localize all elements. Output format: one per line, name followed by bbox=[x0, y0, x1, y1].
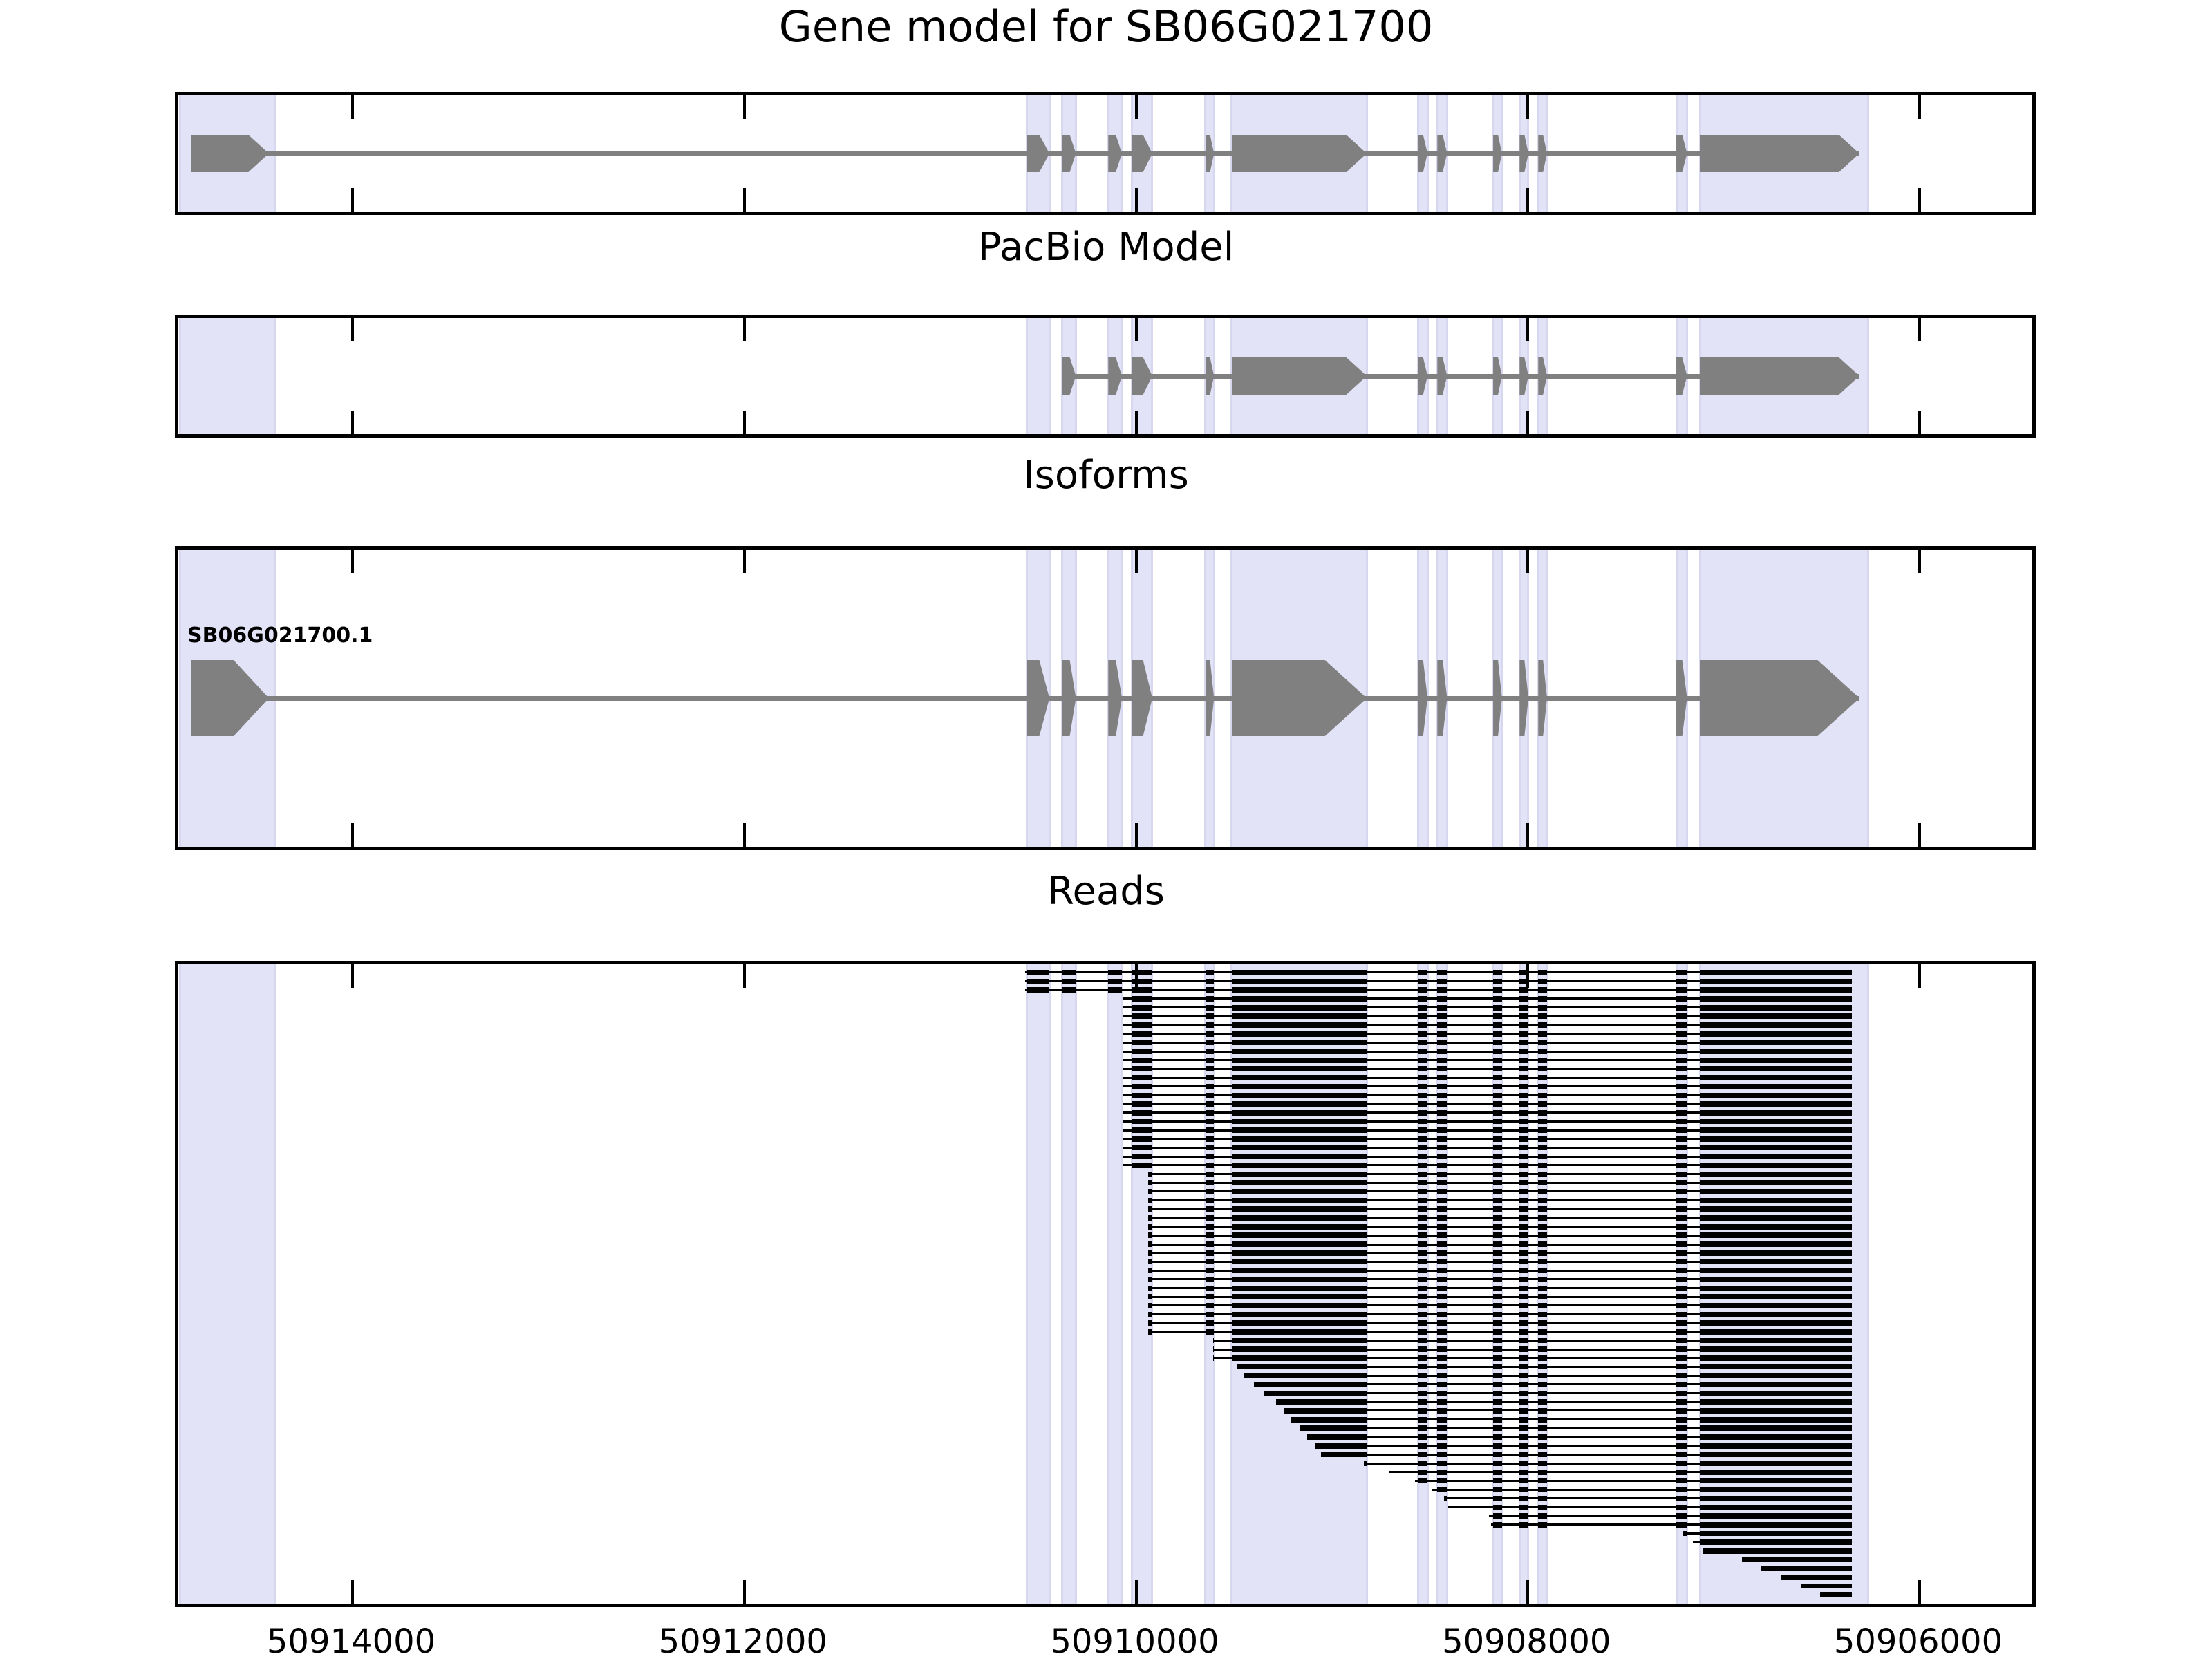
exon bbox=[1700, 135, 1859, 172]
highlight-band-edge bbox=[1061, 964, 1063, 1604]
read-exon-block bbox=[1538, 1049, 1547, 1054]
read-exon-block bbox=[1700, 1049, 1852, 1054]
read-exon-block bbox=[1700, 1531, 1852, 1537]
read-exon-block bbox=[1232, 979, 1367, 984]
read-exon-block bbox=[1307, 1434, 1367, 1440]
read-exon-block bbox=[1700, 1119, 1852, 1125]
read-exon-block bbox=[1418, 1232, 1427, 1238]
highlight-band-edge bbox=[1026, 318, 1028, 434]
read-exon-block bbox=[1264, 1391, 1367, 1396]
read-exon-block bbox=[1027, 987, 1050, 993]
read-exon-block bbox=[1700, 1005, 1852, 1011]
axis-tick-label: 50906000 bbox=[1834, 1622, 2003, 1661]
read-exon-block bbox=[1232, 1101, 1367, 1107]
read-exon-block bbox=[1538, 987, 1547, 993]
read-exon-block bbox=[1206, 1259, 1215, 1264]
read-exon-block bbox=[1538, 1022, 1547, 1028]
read-exon-block bbox=[1538, 1268, 1547, 1273]
axis-tick bbox=[1526, 550, 1529, 573]
read-exon-block bbox=[1321, 1452, 1367, 1457]
read-exon-block bbox=[1232, 1022, 1367, 1028]
read-exon-block bbox=[1418, 979, 1427, 984]
read-exon-block bbox=[1519, 996, 1528, 1002]
read-exon-block bbox=[1493, 1058, 1502, 1063]
read-exon-block bbox=[1493, 1425, 1502, 1431]
axis-tick bbox=[351, 318, 354, 341]
read-exon-block bbox=[1254, 1382, 1367, 1387]
read-exon-block bbox=[1538, 1101, 1547, 1107]
axis-tick bbox=[351, 964, 354, 988]
read-exon-block bbox=[1437, 1066, 1447, 1071]
read-exon-block bbox=[1232, 1066, 1367, 1071]
read-exon-block bbox=[1418, 1329, 1427, 1335]
read-exon-block bbox=[1437, 1189, 1447, 1194]
highlight-band-edge bbox=[1107, 964, 1109, 1604]
read-exon-block bbox=[1232, 1241, 1367, 1247]
read-exon-block bbox=[1206, 1013, 1215, 1019]
read-exon-block bbox=[1519, 1058, 1528, 1063]
read-exon-block bbox=[1519, 1163, 1528, 1168]
read-exon-block bbox=[1232, 1198, 1367, 1203]
read-exon-block bbox=[1519, 1268, 1528, 1273]
read-exon-block bbox=[1437, 1250, 1447, 1256]
read-exon-block bbox=[1232, 1286, 1367, 1291]
read-exon-block bbox=[1538, 1277, 1547, 1282]
read-exon-block bbox=[1437, 1145, 1447, 1151]
plot-area-pacbio-model bbox=[178, 318, 2032, 434]
axis-tick bbox=[1526, 188, 1529, 212]
read-exon-block bbox=[1062, 979, 1076, 984]
read-exon-block bbox=[1538, 1189, 1547, 1194]
read-exon-block bbox=[1538, 1496, 1547, 1501]
read-exon-block bbox=[1213, 1338, 1214, 1344]
read-exon-block bbox=[1244, 1373, 1367, 1378]
read-exon-block bbox=[1538, 1320, 1547, 1326]
axis-tick bbox=[743, 823, 746, 847]
read-exon-block bbox=[1132, 979, 1152, 984]
read-exon-block bbox=[1437, 1425, 1447, 1431]
read-exon-block bbox=[1206, 1031, 1215, 1037]
read-exon-block bbox=[1676, 1040, 1687, 1045]
read-exon-block bbox=[1519, 1320, 1528, 1326]
read-exon-block bbox=[1519, 1294, 1528, 1299]
read-exon-block bbox=[1148, 1259, 1152, 1264]
read-exon-block bbox=[1206, 1005, 1215, 1011]
read-exon-block bbox=[1676, 1110, 1687, 1116]
read-exon-block bbox=[1519, 1286, 1528, 1291]
read-exon-block bbox=[1493, 1268, 1502, 1273]
read-exon-block bbox=[1742, 1557, 1852, 1563]
read-exon-block bbox=[1700, 1505, 1852, 1510]
highlight-band-edge bbox=[179, 550, 181, 847]
read-exon-block bbox=[1206, 1154, 1215, 1159]
read-exon-block bbox=[1538, 1075, 1547, 1080]
read-exon-block bbox=[1700, 1417, 1852, 1423]
read-exon-block bbox=[1519, 1232, 1528, 1238]
read-exon-block bbox=[1418, 1478, 1427, 1483]
read-exon-block bbox=[1437, 1355, 1447, 1361]
read-exon-block bbox=[1437, 1198, 1447, 1203]
read-exon-block bbox=[1493, 1329, 1502, 1335]
exon bbox=[1232, 357, 1367, 395]
plot-area-gene-model bbox=[178, 95, 2032, 212]
read-exon-block bbox=[1493, 1522, 1502, 1528]
read-exon-block bbox=[1437, 1232, 1447, 1238]
axis-tick bbox=[351, 550, 354, 573]
read-exon-block bbox=[1538, 1443, 1547, 1449]
read-exon-block bbox=[1538, 1215, 1547, 1221]
highlight-band-edge bbox=[1049, 964, 1051, 1604]
highlight-band bbox=[1026, 964, 1050, 1604]
read-exon-block bbox=[1676, 1241, 1687, 1247]
read-exon-block bbox=[1418, 1320, 1427, 1326]
read-exon-block bbox=[1206, 1075, 1215, 1080]
read-exon-block bbox=[1132, 987, 1152, 993]
read-exon-block bbox=[1418, 1303, 1427, 1308]
read-exon-block bbox=[1418, 1346, 1427, 1352]
read-exon-block bbox=[1213, 1355, 1214, 1361]
read-exon-block bbox=[1232, 1005, 1367, 1011]
read-exon-block bbox=[1493, 1084, 1502, 1089]
read-exon-block bbox=[1132, 1005, 1152, 1011]
axis-tick bbox=[743, 318, 746, 341]
read-exon-block bbox=[1493, 970, 1502, 975]
read-exon-block bbox=[1493, 1127, 1502, 1133]
read-exon-block bbox=[1206, 1320, 1215, 1326]
read-exon-block bbox=[1148, 1277, 1152, 1282]
read-exon-block bbox=[1700, 1496, 1852, 1501]
read-exon-block bbox=[1676, 1505, 1687, 1510]
read-exon-block bbox=[1493, 1145, 1502, 1151]
read-exon-block bbox=[1437, 1005, 1447, 1011]
read-exon-block bbox=[1232, 1303, 1367, 1308]
read-exon-block bbox=[1148, 1312, 1152, 1317]
read-exon-block bbox=[1676, 1487, 1687, 1492]
read-exon-block bbox=[1493, 1163, 1502, 1168]
read-exon-block bbox=[1676, 1329, 1687, 1335]
highlight-band bbox=[1026, 318, 1050, 434]
read-exon-block bbox=[1206, 1198, 1215, 1203]
read-exon-block bbox=[1437, 1452, 1447, 1457]
read-exon-block bbox=[1700, 1172, 1852, 1177]
read-exon-block bbox=[1538, 1093, 1547, 1098]
read-exon-block bbox=[1437, 1478, 1447, 1483]
read-exon-block bbox=[1232, 1136, 1367, 1142]
read-exon-block bbox=[1132, 1066, 1152, 1071]
axis-tick bbox=[1526, 318, 1529, 341]
read-exon-block bbox=[1676, 1373, 1687, 1378]
read-exon-block bbox=[1148, 1189, 1152, 1194]
read-exon-block bbox=[1232, 1013, 1367, 1019]
read-exon-block bbox=[1519, 1461, 1528, 1466]
read-exon-block bbox=[1538, 996, 1547, 1002]
read-exon-block bbox=[1493, 1452, 1502, 1457]
read-exon-block bbox=[1437, 1215, 1447, 1221]
read-exon-block bbox=[1519, 1224, 1528, 1230]
axis-tick bbox=[351, 95, 354, 119]
read-exon-block bbox=[1538, 1312, 1547, 1317]
read-exon-block bbox=[1493, 1250, 1502, 1256]
read-exon-block bbox=[1418, 1215, 1427, 1221]
read-exon-block bbox=[1676, 996, 1687, 1002]
read-exon-block bbox=[1676, 1189, 1687, 1194]
read-exon-block bbox=[1700, 1382, 1852, 1387]
read-exon-block bbox=[1232, 1268, 1367, 1273]
read-exon-block bbox=[1148, 1241, 1152, 1247]
read-exon-block bbox=[1538, 1452, 1547, 1457]
read-exon-block bbox=[1700, 1040, 1852, 1045]
read-exon-block bbox=[1232, 1163, 1367, 1168]
read-exon-block bbox=[1232, 1294, 1367, 1299]
read-exon-block bbox=[1418, 1206, 1427, 1212]
panel-gene-model bbox=[175, 92, 2036, 215]
read-exon-block bbox=[1519, 1478, 1528, 1483]
read-exon-block bbox=[1493, 1277, 1502, 1282]
read-exon-block bbox=[1108, 979, 1122, 984]
read-exon-block bbox=[1206, 1145, 1215, 1151]
read-exon-block bbox=[1437, 1461, 1447, 1466]
read-exon-block bbox=[1700, 970, 1852, 975]
read-exon-block bbox=[1700, 1163, 1852, 1168]
axis-tick bbox=[1135, 1580, 1138, 1604]
read-exon-block bbox=[1437, 1268, 1447, 1273]
read-exon-block bbox=[1519, 970, 1528, 975]
read-exon-block bbox=[1148, 1224, 1152, 1230]
read-exon-block bbox=[1700, 1286, 1852, 1291]
read-exon-block bbox=[1676, 1391, 1687, 1396]
read-exon-block bbox=[1206, 1049, 1215, 1054]
read-exon-block bbox=[1700, 1075, 1852, 1080]
read-exon-block bbox=[1132, 1119, 1152, 1125]
read-exon-block bbox=[1437, 1110, 1447, 1116]
read-exon-block bbox=[1132, 1058, 1152, 1063]
read-exon-block bbox=[1493, 1478, 1502, 1483]
read-exon-block bbox=[1493, 1373, 1502, 1378]
axis-tick bbox=[743, 188, 746, 212]
read-exon-block bbox=[1418, 1259, 1427, 1264]
read-exon-block bbox=[1418, 1294, 1427, 1299]
read-exon-block bbox=[1206, 1241, 1215, 1247]
read-exon-block bbox=[1437, 996, 1447, 1002]
read-exon-block bbox=[1700, 1180, 1852, 1185]
intron-line bbox=[191, 696, 1859, 701]
read-exon-block bbox=[1437, 1286, 1447, 1291]
read-exon-block bbox=[1493, 1346, 1502, 1352]
read-exon-block bbox=[1519, 1084, 1528, 1089]
read-exon-block bbox=[1027, 979, 1050, 984]
read-exon-block bbox=[1676, 1101, 1687, 1107]
read-exon-block bbox=[1700, 1294, 1852, 1299]
read-exon-block bbox=[1206, 1277, 1215, 1282]
read-exon-block bbox=[1418, 1364, 1427, 1370]
read-exon-block bbox=[1676, 1425, 1687, 1431]
read-exon-block bbox=[1437, 1031, 1447, 1037]
read-exon-block bbox=[1437, 1040, 1447, 1045]
read-exon-block bbox=[1493, 1259, 1502, 1264]
read-exon-block bbox=[1437, 1049, 1447, 1054]
read-exon-block bbox=[1519, 1066, 1528, 1071]
read-exon-block bbox=[1519, 1022, 1528, 1028]
read-exon-block bbox=[1132, 1022, 1152, 1028]
axis-tick bbox=[1135, 411, 1138, 434]
axis-tick bbox=[743, 550, 746, 573]
read-exon-block bbox=[1418, 1286, 1427, 1291]
read-exon-block bbox=[1519, 1452, 1528, 1457]
read-exon-block bbox=[1206, 1189, 1215, 1194]
read-exon-block bbox=[1437, 1312, 1447, 1317]
read-exon-block bbox=[1700, 1364, 1852, 1370]
read-exon-block bbox=[1206, 1058, 1215, 1063]
read-exon-block bbox=[1538, 1355, 1547, 1361]
read-exon-block bbox=[1437, 1399, 1447, 1405]
read-exon-block bbox=[1437, 1294, 1447, 1299]
read-exon-block bbox=[1232, 996, 1367, 1002]
read-exon-block bbox=[1418, 1312, 1427, 1317]
read-exon-block bbox=[1493, 1172, 1502, 1177]
read-exon-block bbox=[1676, 1232, 1687, 1238]
read-exon-block bbox=[1700, 1452, 1852, 1457]
read-exon-block bbox=[1493, 1189, 1502, 1194]
read-exon-block bbox=[1418, 1373, 1427, 1378]
read-exon-block bbox=[1493, 1075, 1502, 1080]
read-exon-block bbox=[1700, 1232, 1852, 1238]
read-exon-block bbox=[1519, 1303, 1528, 1308]
read-exon-block bbox=[1437, 1417, 1447, 1423]
read-exon-block bbox=[1538, 1391, 1547, 1396]
plot-area-isoforms bbox=[178, 550, 2032, 847]
read-exon-block bbox=[1437, 1163, 1447, 1168]
read-exon-block bbox=[1700, 1277, 1852, 1282]
read-exon-block bbox=[1700, 1136, 1852, 1142]
read-exon-block bbox=[1206, 1110, 1215, 1116]
read-exon-block bbox=[1437, 1241, 1447, 1247]
read-exon-block bbox=[1418, 1145, 1427, 1151]
panel-pacbio-model bbox=[175, 315, 2036, 438]
read-exon-block bbox=[1700, 1224, 1852, 1230]
axis-tick bbox=[1135, 318, 1138, 341]
read-exon-block bbox=[1148, 1172, 1152, 1177]
read-exon-block bbox=[1206, 1286, 1215, 1291]
read-exon-block bbox=[1519, 1075, 1528, 1080]
read-exon-block bbox=[1418, 1075, 1427, 1080]
read-exon-block bbox=[1700, 1084, 1852, 1089]
read-exon-block bbox=[1538, 1346, 1547, 1352]
read-exon-block bbox=[1538, 1329, 1547, 1335]
panel-title-isoforms: Isoforms bbox=[0, 456, 2212, 495]
read-exon-block bbox=[1676, 1005, 1687, 1011]
read-exon-block bbox=[1676, 1093, 1687, 1098]
read-exon-block bbox=[1538, 1250, 1547, 1256]
read-exon-block bbox=[1493, 1232, 1502, 1238]
read-exon-block bbox=[1700, 1399, 1852, 1405]
read-exon-block bbox=[1700, 1259, 1852, 1264]
read-exon-block bbox=[1437, 987, 1447, 993]
read-exon-block bbox=[1206, 1232, 1215, 1238]
read-exon-block bbox=[1132, 1101, 1152, 1107]
read-exon-block bbox=[1206, 1268, 1215, 1273]
read-exon-block bbox=[1538, 1198, 1547, 1203]
read-exon-block bbox=[1206, 1224, 1215, 1230]
read-exon-block bbox=[1232, 1206, 1367, 1212]
read-exon-block bbox=[1418, 1408, 1427, 1414]
read-exon-block bbox=[1437, 1127, 1447, 1133]
axis-tick bbox=[351, 188, 354, 212]
read-exon-block bbox=[1519, 1206, 1528, 1212]
read-exon-block bbox=[1519, 1434, 1528, 1440]
axis-tick-label: 50912000 bbox=[659, 1622, 827, 1661]
read-exon-block bbox=[1519, 1346, 1528, 1352]
read-exon-block bbox=[1519, 1180, 1528, 1185]
read-exon-block bbox=[1437, 1391, 1447, 1396]
read-exon-block bbox=[1676, 1417, 1687, 1423]
read-exon-block bbox=[1206, 1294, 1215, 1299]
read-exon-block bbox=[1676, 1075, 1687, 1080]
read-exon-block bbox=[1493, 1136, 1502, 1142]
axis-tick-label: 50908000 bbox=[1442, 1622, 1611, 1661]
read-exon-block bbox=[1519, 1496, 1528, 1501]
read-exon-block bbox=[1418, 1110, 1427, 1116]
read-exon-block bbox=[1493, 1093, 1502, 1098]
read-exon-block bbox=[1676, 1198, 1687, 1203]
read-exon-block bbox=[1676, 1215, 1687, 1221]
read-exon-block bbox=[1676, 970, 1687, 975]
read-exon-block bbox=[1700, 1487, 1852, 1492]
read-exon-block bbox=[1437, 1382, 1447, 1387]
read-exon-block bbox=[1232, 1346, 1367, 1352]
read-exon-block bbox=[1232, 1110, 1367, 1116]
read-exon-block bbox=[1538, 1163, 1547, 1168]
read-exon-block bbox=[1206, 979, 1215, 984]
read-exon-block bbox=[1493, 1417, 1502, 1423]
read-exon-block bbox=[1538, 1232, 1547, 1238]
read-exon-block bbox=[1519, 1364, 1528, 1370]
read-exon-block bbox=[1232, 1049, 1367, 1054]
read-exon-block bbox=[1519, 1215, 1528, 1221]
read-exon-block bbox=[1418, 1391, 1427, 1396]
read-exon-block bbox=[1676, 1513, 1687, 1519]
read-exon-block bbox=[1437, 1487, 1447, 1492]
read-exon-block bbox=[1206, 1093, 1215, 1098]
read-exon-block bbox=[1148, 1286, 1152, 1291]
read-exon-block bbox=[1519, 1470, 1528, 1475]
read-exon-block bbox=[1232, 1180, 1367, 1185]
highlight-band-edge bbox=[1867, 964, 1869, 1604]
highlight-band-edge bbox=[179, 95, 181, 212]
read-exon-block bbox=[1418, 1399, 1427, 1405]
highlight-band-edge bbox=[1867, 95, 1869, 212]
read-exon-block bbox=[1683, 1531, 1687, 1537]
read-exon-block bbox=[1781, 1575, 1852, 1580]
read-exon-block bbox=[1493, 1408, 1502, 1414]
read-exon-block bbox=[1700, 1058, 1852, 1063]
panel-reads bbox=[175, 961, 2036, 1607]
read-exon-block bbox=[1519, 1329, 1528, 1335]
read-exon-block bbox=[1206, 1180, 1215, 1185]
read-exon-block bbox=[1493, 1294, 1502, 1299]
read-exon-block bbox=[1700, 1101, 1852, 1107]
axis-tick bbox=[1918, 964, 1921, 988]
read-exon-block bbox=[1418, 1224, 1427, 1230]
read-exon-block bbox=[1062, 987, 1076, 993]
read-exon-block bbox=[1676, 1127, 1687, 1133]
read-exon-block bbox=[1132, 1163, 1152, 1168]
read-exon-block bbox=[1676, 1049, 1687, 1054]
axis-tick bbox=[743, 964, 746, 988]
highlight-band-edge bbox=[1867, 318, 1869, 434]
read-exon-block bbox=[1519, 1005, 1528, 1011]
read-exon-block bbox=[1206, 1329, 1215, 1335]
read-exon-block bbox=[1703, 1548, 1851, 1554]
